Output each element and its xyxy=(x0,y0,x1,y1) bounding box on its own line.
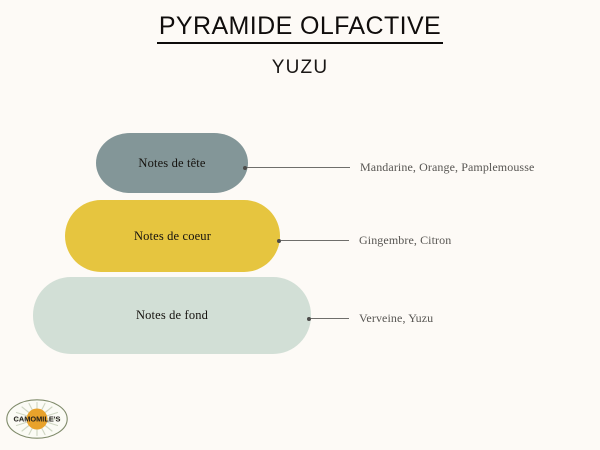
annotation-top-notes: Mandarine, Orange, Pamplemousse xyxy=(243,160,534,175)
pyramid-layer-label: Notes de coeur xyxy=(134,229,211,244)
pyramid-layer-top-notes[interactable]: Notes de tête xyxy=(96,133,248,193)
slide-canvas: PYRAMIDE OLFACTIVE YUZU Notes de tête No… xyxy=(0,0,600,450)
annotation-text: Mandarine, Orange, Pamplemousse xyxy=(360,160,534,175)
annotation-base-notes: Verveine, Yuzu xyxy=(307,311,433,326)
connector-line-icon xyxy=(281,240,349,241)
olfactive-pyramid: Notes de tête Notes de coeur Notes de fo… xyxy=(0,0,600,450)
pyramid-layer-heart-notes[interactable]: Notes de coeur xyxy=(65,200,280,272)
pyramid-layer-label: Notes de fond xyxy=(136,308,208,323)
connector-line-icon xyxy=(247,167,350,168)
logo-text: CAMOMILE'S xyxy=(14,415,61,424)
connector-line-icon xyxy=(311,318,349,319)
pyramid-layer-label: Notes de tête xyxy=(138,156,205,171)
pyramid-layer-base-notes[interactable]: Notes de fond xyxy=(33,277,311,354)
annotation-text: Verveine, Yuzu xyxy=(359,311,433,326)
brand-logo[interactable]: CAMOMILE'S xyxy=(5,398,69,440)
annotation-text: Gingembre, Citron xyxy=(359,233,451,248)
annotation-heart-notes: Gingembre, Citron xyxy=(277,233,451,248)
daisy-flower-icon: CAMOMILE'S xyxy=(5,398,69,440)
